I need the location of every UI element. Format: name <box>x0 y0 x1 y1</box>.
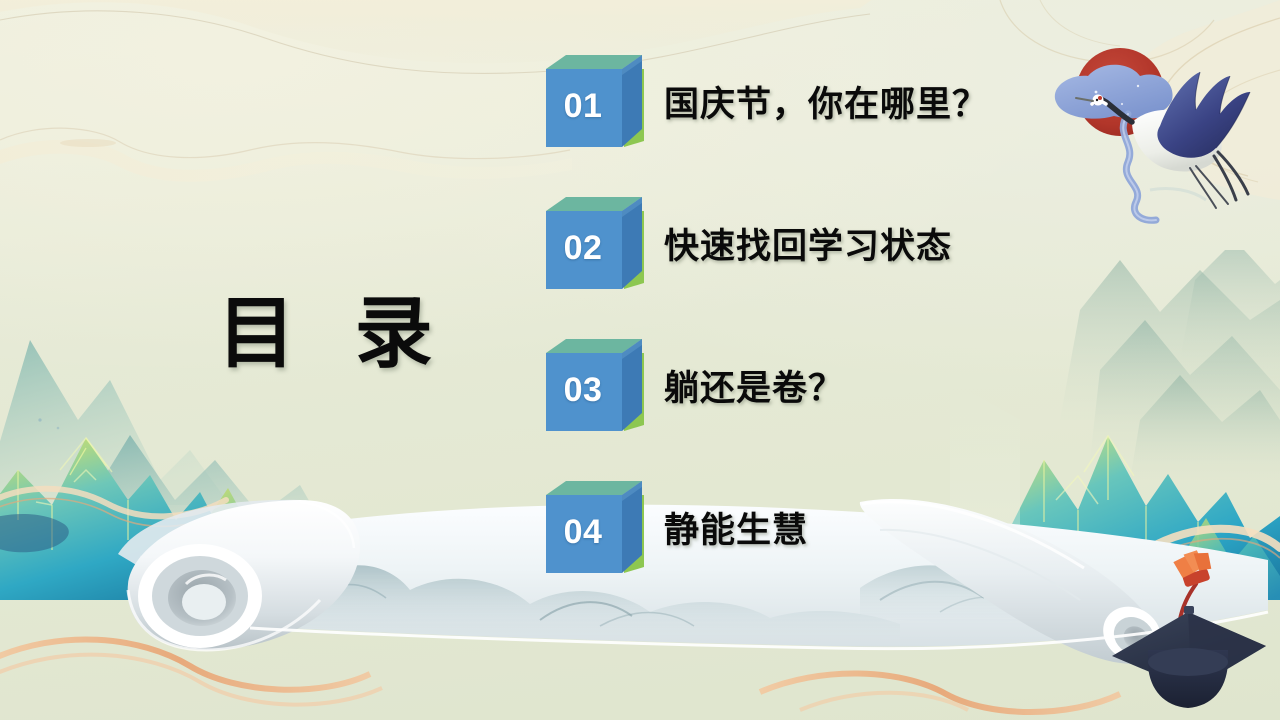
number-cube-icon: 01 <box>540 47 648 155</box>
presentation-slide: 目 录 01 国庆节，你在哪里？ <box>0 0 1280 720</box>
number-cube-icon: 03 <box>540 331 648 439</box>
toc-item-02[interactable]: 02 快速找回学习状态 <box>540 188 952 298</box>
toc-item-label: 国庆节，你在哪里？ <box>664 76 988 127</box>
page-title: 目 录 <box>175 295 475 373</box>
toc-item-label: 躺还是卷？ <box>664 360 844 411</box>
toc-item-label: 静能生慧 <box>664 502 808 553</box>
toc-item-label: 快速找回学习状态 <box>664 218 952 269</box>
toc-item-03[interactable]: 03 躺还是卷？ <box>540 330 844 440</box>
page-title-text: 目 录 <box>175 295 475 373</box>
number-cube-icon: 02 <box>540 189 648 297</box>
toc-item-01[interactable]: 01 国庆节，你在哪里？ <box>540 46 988 156</box>
number-cube-icon: 04 <box>540 473 648 581</box>
toc-item-04[interactable]: 04 静能生慧 <box>540 472 808 582</box>
